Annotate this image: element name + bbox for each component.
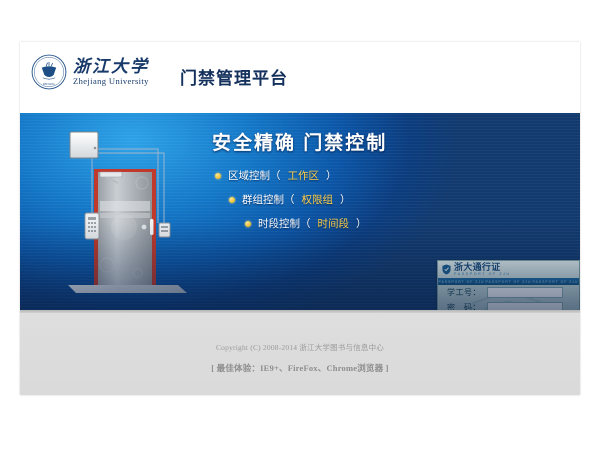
feature-item-time: 时段控制（时间段） [245, 216, 430, 231]
zju-seal-icon: ZHEJIANG [31, 54, 67, 90]
page-title: 门禁管理平台 [180, 64, 288, 89]
login-panel-header: 浙大通行证 PASSPORT OF ZJU [438, 261, 579, 278]
login-title-en: PASSPORT OF ZJU [454, 273, 511, 277]
logo-name-en: Zhejiang University [73, 77, 149, 86]
feature-highlight-time: 时间段 [318, 216, 350, 231]
feature-highlight-group: 权限组 [302, 192, 334, 207]
marquee-text-3: PASSPORT OF ZJU [533, 280, 579, 284]
feature-tail-group: ） [340, 192, 351, 207]
feature-item-area: 区域控制（工作区） [215, 168, 430, 183]
university-logo[interactable]: ZHEJIANG 浙江大学 Zhejiang University [31, 54, 149, 90]
shield-icon [442, 264, 451, 275]
page-card: ZHEJIANG 浙江大学 Zhejiang University 门禁管理平台 [20, 42, 580, 395]
logo-wordmark: 浙江大学 Zhejiang University [73, 58, 149, 86]
marquee-text-2: PASSPORT OF ZJU [486, 280, 532, 284]
password-input[interactable] [487, 302, 563, 310]
feature-label-time: 时段控制（ [258, 216, 311, 231]
login-form: 学工号： 密 码： [438, 287, 579, 310]
bullet-dot-icon [245, 221, 251, 227]
logo-name-cn: 浙江大学 [73, 58, 149, 75]
feature-tail-time: ） [356, 216, 367, 231]
svg-text:ZHEJIANG: ZHEJIANG [43, 83, 55, 86]
feature-highlight-area: 工作区 [288, 168, 320, 183]
banner-headline: 安全精确 门禁控制 [212, 128, 387, 155]
site-footer: Copyright (C) 2008-2014 浙江大学图书与信息中心 [ 最佳… [20, 310, 580, 395]
field-row-userid: 学工号： [438, 287, 579, 298]
label-userid: 学工号： [447, 287, 487, 298]
login-title-block: 浙大通行证 PASSPORT OF ZJU [454, 263, 511, 277]
bullet-dot-icon [229, 197, 235, 203]
footer-copyright: Copyright (C) 2008-2014 浙江大学图书与信息中心 [20, 342, 580, 353]
footer-browser-note: [ 最佳体验：IE9+、FireFox、Chrome浏览器 ] [20, 362, 580, 374]
login-title-cn: 浙大通行证 [454, 263, 511, 272]
label-password: 密 码： [447, 302, 487, 310]
feature-label-group: 群组控制（ [242, 192, 295, 207]
door-access-control-illustration [54, 127, 199, 297]
marquee-text-1: PASSPORT OF ZJU [439, 280, 485, 284]
login-panel: 浙大通行证 PASSPORT OF ZJU PASSPORT OF ZJU PA… [437, 260, 580, 310]
userid-input[interactable] [487, 287, 563, 298]
feature-label-area: 区域控制（ [228, 168, 281, 183]
screenshot-root: ZHEJIANG 浙江大学 Zhejiang University 门禁管理平台 [0, 0, 600, 450]
hero-banner: 安全精确 门禁控制 区域控制（工作区） 群组控制（权限组） 时段控制（时间段） [20, 113, 580, 310]
feature-tail-area: ） [326, 168, 337, 183]
footer-divider [20, 310, 580, 313]
site-header: ZHEJIANG 浙江大学 Zhejiang University 门禁管理平台 [20, 42, 580, 113]
field-row-password: 密 码： [438, 302, 579, 310]
feature-item-group: 群组控制（权限组） [229, 192, 430, 207]
login-marquee-strip: PASSPORT OF ZJU PASSPORT OF ZJU PASSPORT… [438, 278, 579, 285]
banner-feature-list: 区域控制（工作区） 群组控制（权限组） 时段控制（时间段） [215, 168, 430, 240]
bullet-dot-icon [215, 173, 221, 179]
